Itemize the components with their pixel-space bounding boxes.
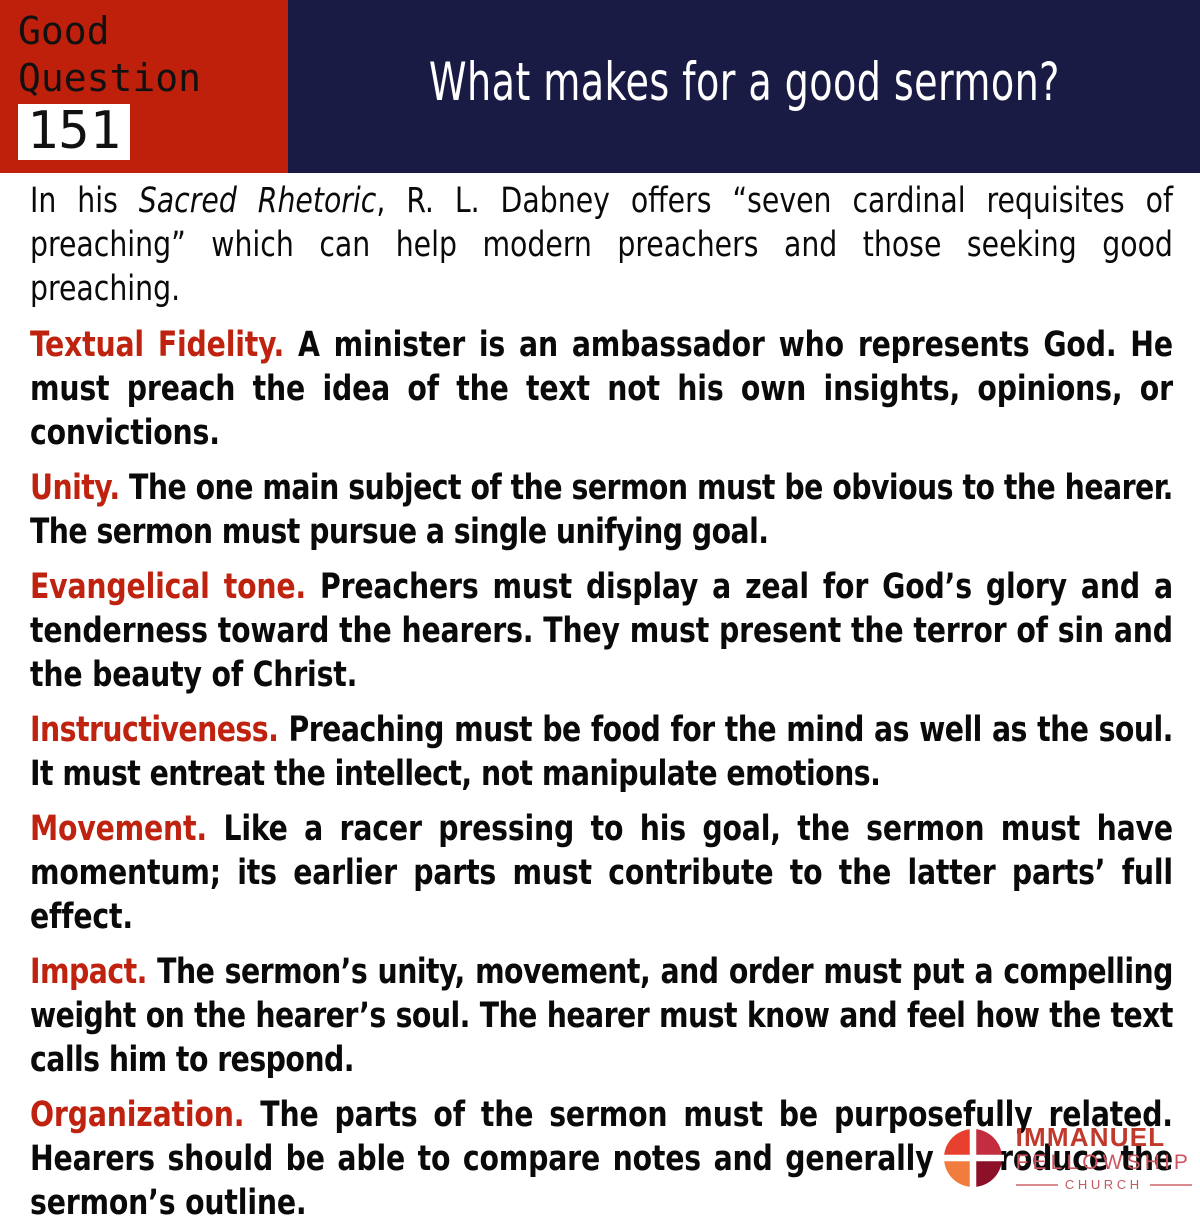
logo-wordmark: IMMANUEL FELLOWSHIP CHURCH bbox=[1016, 1123, 1192, 1192]
requisite-lead: Organization. bbox=[30, 1095, 244, 1135]
requisite-item: Textual Fidelity. A minister is an ambas… bbox=[30, 323, 1173, 455]
poster-header: Good Question 151 What makes for a good … bbox=[0, 0, 1200, 173]
page-title: What makes for a good sermon? bbox=[429, 54, 1060, 112]
church-logo: IMMANUEL FELLOWSHIP CHURCH bbox=[942, 1123, 1192, 1192]
requisite-lead: Movement. bbox=[30, 809, 207, 849]
intro-before: In his bbox=[30, 181, 139, 221]
logo-name: IMMANUEL bbox=[1016, 1123, 1192, 1151]
book-title: Sacred Rhetoric bbox=[139, 181, 377, 221]
requisite-item: Unity. The one main subject of the sermo… bbox=[30, 466, 1173, 554]
title-bar: What makes for a good sermon? bbox=[288, 0, 1200, 173]
intro-paragraph: In his Sacred Rhetoric, R. L. Dabney off… bbox=[30, 179, 1173, 311]
requisite-lead: Instructiveness. bbox=[30, 710, 278, 750]
requisite-lead: Unity. bbox=[30, 468, 120, 508]
logo-dash-left bbox=[1016, 1184, 1058, 1186]
requisite-item: Evangelical tone. Preachers must display… bbox=[30, 565, 1173, 697]
logo-church-row: CHURCH bbox=[1016, 1178, 1192, 1192]
good-question-badge: Good Question 151 bbox=[0, 0, 288, 173]
cross-gap bbox=[942, 1127, 1004, 1189]
cross-circle-icon bbox=[942, 1127, 1004, 1189]
badge-line-good: Good bbox=[18, 8, 288, 55]
badge-number-box: 151 bbox=[18, 104, 130, 160]
requisite-lead: Impact. bbox=[30, 952, 147, 992]
logo-subname: FELLOWSHIP bbox=[1016, 1151, 1192, 1175]
requisite-text: The one main subject of the sermon must … bbox=[30, 468, 1173, 552]
requisite-item: Movement. Like a racer pressing to his g… bbox=[30, 807, 1173, 939]
requisite-item: Impact. The sermon’s unity, movement, an… bbox=[30, 950, 1173, 1082]
poster-page: Good Question 151 What makes for a good … bbox=[0, 0, 1200, 1200]
badge-number: 151 bbox=[27, 104, 121, 158]
badge-line-question: Question bbox=[18, 55, 288, 102]
poster-body: In his Sacred Rhetoric, R. L. Dabney off… bbox=[0, 173, 1200, 1225]
requisite-lead: Textual Fidelity. bbox=[30, 325, 284, 365]
logo-church-word: CHURCH bbox=[1065, 1178, 1143, 1192]
logo-dash-right bbox=[1150, 1184, 1192, 1186]
requisite-item: Instructiveness. Preaching must be food … bbox=[30, 708, 1173, 796]
requisite-lead: Evangelical tone. bbox=[30, 567, 306, 607]
cross-circle-svg bbox=[942, 1127, 1004, 1189]
requisite-text: The sermon’s unity, movement, and order … bbox=[30, 952, 1173, 1080]
